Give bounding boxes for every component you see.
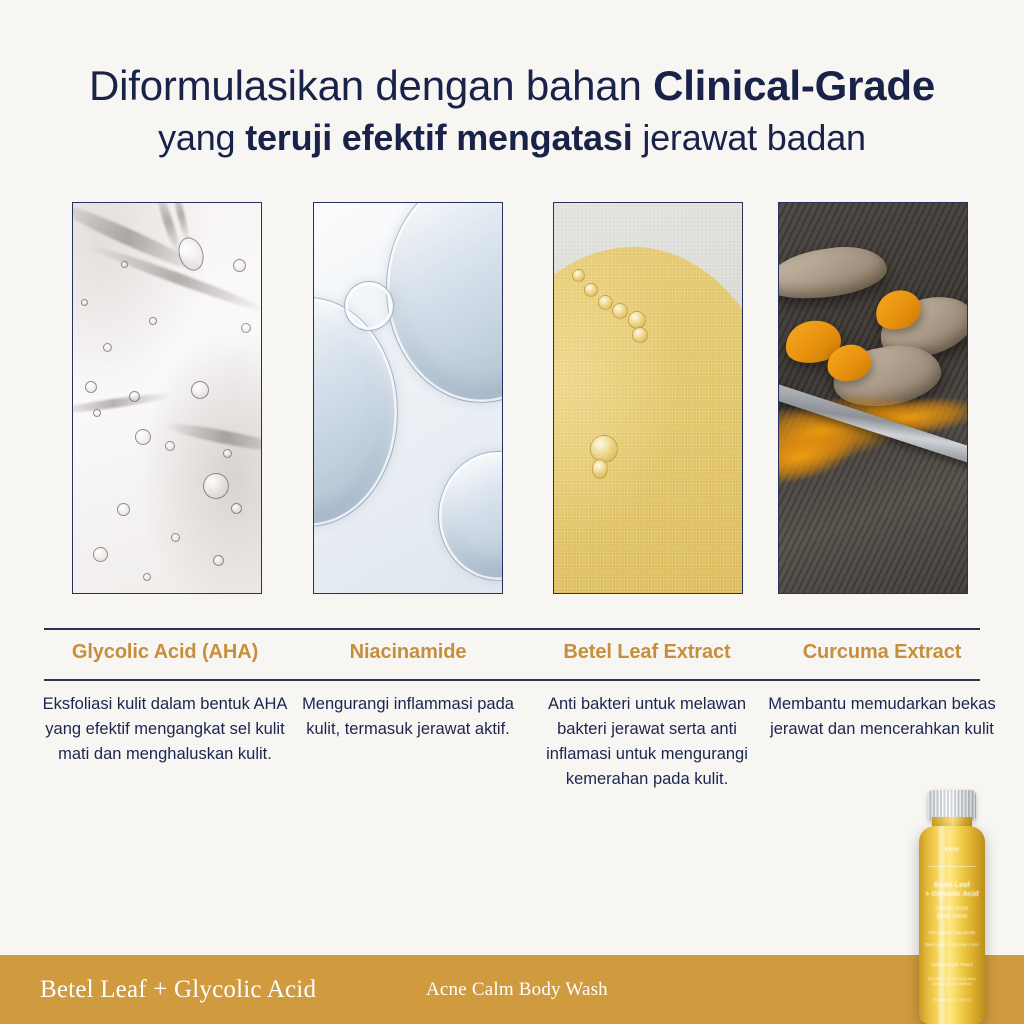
divider-above-names — [44, 628, 980, 630]
ingredient-name: Niacinamide — [290, 641, 526, 664]
headline-line2-plain-b: jerawat badan — [633, 117, 866, 158]
gel-bubble — [121, 261, 128, 268]
headline-line1-plain: Diformulasikan dengan bahan — [89, 62, 653, 109]
gel-bubble — [117, 503, 130, 516]
bottle-detail-line-2: Betel Leaf • Curcuma • AHA — [919, 942, 985, 948]
gel-bubble — [213, 555, 224, 566]
headline-line-1: Diformulasikan dengan bahan Clinical-Gra… — [0, 62, 1024, 111]
ingredient-name: Glycolic Acid (AHA) — [40, 641, 290, 664]
gel-bubble — [191, 381, 209, 399]
divider-below-names — [44, 679, 980, 681]
ingredient-name: Betel Leaf Extract — [526, 641, 768, 664]
bottle-product-subtitle: Gentle Acne Body Wash — [919, 906, 985, 921]
bottle-label-rule — [928, 866, 976, 867]
gel-bubble — [85, 381, 97, 393]
bottle-detail-line-5: Net 200 ml / 6.76 fl oz — [919, 998, 985, 1003]
headline-line1-emphasis: Clinical-Grade — [653, 62, 935, 109]
gel-bubble — [231, 503, 242, 514]
gel-bubble — [203, 473, 229, 499]
oil-bubble — [632, 327, 648, 343]
ingredient-name: Curcuma Extract — [768, 641, 996, 664]
gel-bubble — [171, 533, 180, 542]
bottle-product-name: Betel Leaf + Glycolic Acid — [919, 880, 985, 899]
bottle-highlight — [937, 826, 946, 1024]
gel-bubble — [223, 449, 232, 458]
bottle-cap — [928, 790, 976, 820]
ingredient-description: Eksfoliasi kulit dalam bentuk AHA yang e… — [40, 692, 290, 767]
oil-bubble — [590, 435, 618, 463]
bottle-detail-line-4: For daily use on body acne and rough ski… — [919, 976, 985, 986]
ingredient-image-glycolic-acid — [72, 202, 262, 594]
ingredient-image-betel-leaf — [553, 202, 743, 594]
ingredient-description: Anti bakteri untuk melawan bakteri jeraw… — [526, 692, 768, 792]
ingredient-description: Mengurangi inflammasi pada kulit, termas… — [290, 692, 526, 742]
footer-product-type: Acne Calm Body Wash — [426, 979, 608, 1001]
gel-bubble — [135, 429, 151, 445]
bottle-detail-line-1: with Natural Ingredients — [919, 930, 985, 936]
ingredient-description: Membantu memudarkan bekas jerawat dan me… — [768, 692, 996, 742]
bottle-body: skin Betel Leaf + Glycolic Acid Gentle A… — [919, 826, 985, 1024]
oil-bubble — [598, 295, 613, 310]
gel-bubble — [103, 343, 112, 352]
oil-bubble — [584, 283, 598, 297]
oil-bubble — [572, 269, 585, 282]
product-bottle: skin Betel Leaf + Glycolic Acid Gentle A… — [909, 790, 995, 1024]
gel-bubble — [93, 409, 101, 417]
gel-bubble — [241, 323, 251, 333]
headline-line2-emphasis: teruji efektif mengatasi — [245, 117, 632, 158]
gel-bubble — [81, 299, 88, 306]
ingredient-image-niacinamide — [313, 202, 503, 594]
page-title: Diformulasikan dengan bahan Clinical-Gra… — [0, 62, 1024, 158]
gel-bubble — [149, 317, 157, 325]
gel-bubble — [143, 573, 151, 581]
headline-line-2: yang teruji efektif mengatasi jerawat ba… — [0, 117, 1024, 159]
footer-product-variant: Betel Leaf + Glycolic Acid — [40, 976, 316, 1004]
oil-bubble — [612, 303, 628, 319]
gel-bubble — [165, 441, 175, 451]
gel-bubble — [233, 259, 246, 272]
headline-line2-plain-a: yang — [158, 117, 245, 158]
gel-bubble — [129, 391, 140, 402]
bottle-brand-name: skin — [919, 846, 985, 854]
small-bubble-ring — [344, 281, 394, 331]
footer-bar: Betel Leaf + Glycolic Acid Acne Calm Bod… — [0, 955, 1024, 1024]
oil-bubble — [592, 459, 608, 479]
ingredient-image-row — [0, 202, 1024, 594]
ingredient-image-curcuma — [778, 202, 968, 594]
bottle-detail-line-3: Dermatologist Tested — [919, 962, 985, 968]
gel-bubble — [93, 547, 108, 562]
oil-grain-texture — [554, 203, 742, 593]
